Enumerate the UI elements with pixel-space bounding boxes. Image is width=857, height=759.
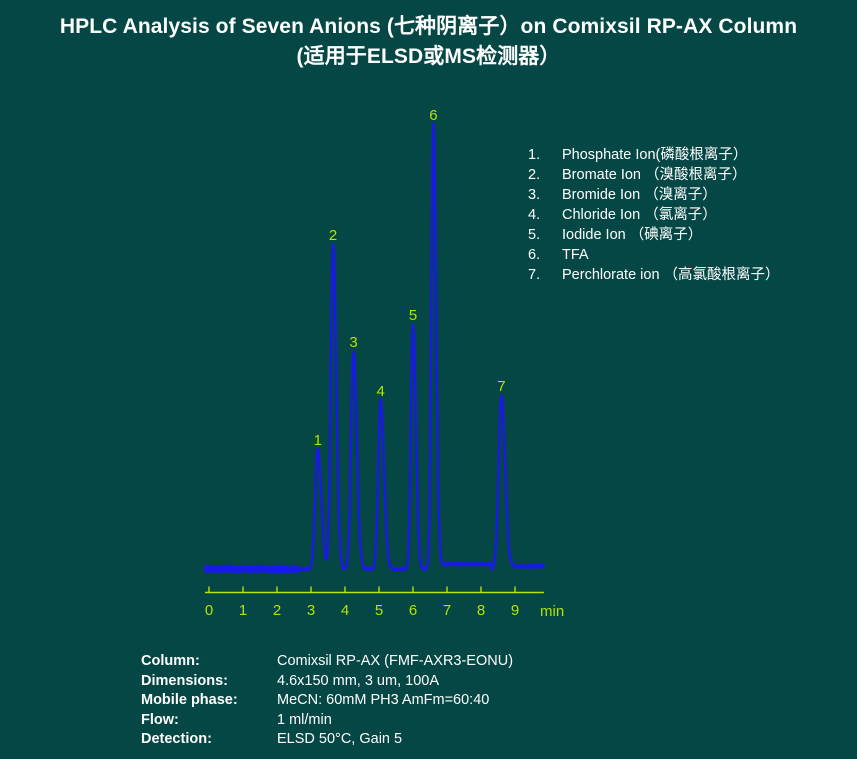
legend-item-number: 1. xyxy=(528,145,562,165)
x-axis-tick-9: 9 xyxy=(511,602,519,619)
method-parameter-name: Dimensions: xyxy=(141,672,277,692)
legend-item-number: 3. xyxy=(528,185,562,205)
x-axis: 0123456789 min xyxy=(0,0,857,640)
method-row: Mobile phase:MeCN: 60mM PH3 AmFm=60:40 xyxy=(141,691,513,711)
method-parameter-value: ELSD 50°C, Gain 5 xyxy=(277,730,402,750)
legend-item-number: 2. xyxy=(528,165,562,185)
method-parameter-value: 1 ml/min xyxy=(277,711,332,731)
x-axis-tick-7: 7 xyxy=(443,602,451,619)
legend-item-label: Bromide Ion （溴离子） xyxy=(562,185,717,205)
legend-item: 6.TFA xyxy=(528,245,780,265)
x-axis-tick-6: 6 xyxy=(409,602,417,619)
legend-item-number: 4. xyxy=(528,205,562,225)
legend-item-number: 5. xyxy=(528,225,562,245)
method-row: Flow:1 ml/min xyxy=(141,711,513,731)
method-parameter-name: Detection: xyxy=(141,730,277,750)
x-axis-unit-label: min xyxy=(540,603,564,620)
slide-canvas: HPLC Analysis of Seven Anions (七种阴离子）on … xyxy=(0,0,857,759)
x-axis-line xyxy=(0,0,857,640)
method-parameter-value: Comixsil RP-AX (FMF-AXR3-EONU) xyxy=(277,652,513,672)
method-row: Detection:ELSD 50°C, Gain 5 xyxy=(141,730,513,750)
legend-item-number: 6. xyxy=(528,245,562,265)
legend-item-label: Perchlorate ion （高氯酸根离子） xyxy=(562,265,780,285)
x-axis-tick-5: 5 xyxy=(375,602,383,619)
legend-item: 2.Bromate Ion （溴酸根离子） xyxy=(528,165,780,185)
legend-item: 3.Bromide Ion （溴离子） xyxy=(528,185,780,205)
method-parameter-name: Mobile phase: xyxy=(141,691,277,711)
legend-item-label: Bromate Ion （溴酸根离子） xyxy=(562,165,747,185)
method-parameter-value: 4.6x150 mm, 3 um, 100A xyxy=(277,672,439,692)
legend: 1.Phosphate Ion(磷酸根离子）2.Bromate Ion （溴酸根… xyxy=(528,145,780,285)
legend-item: 1.Phosphate Ion(磷酸根离子） xyxy=(528,145,780,165)
method-parameter-value: MeCN: 60mM PH3 AmFm=60:40 xyxy=(277,691,489,711)
legend-item: 4.Chloride Ion （氯离子） xyxy=(528,205,780,225)
legend-item-label: Phosphate Ion(磷酸根离子） xyxy=(562,145,747,165)
x-axis-tick-0: 0 xyxy=(205,602,213,619)
method-parameter-name: Column: xyxy=(141,652,277,672)
x-axis-tick-3: 3 xyxy=(307,602,315,619)
legend-item-label: TFA xyxy=(562,245,589,265)
legend-item-label: Iodide Ion （碘离子） xyxy=(562,225,702,245)
x-axis-tick-1: 1 xyxy=(239,602,247,619)
x-axis-tick-4: 4 xyxy=(341,602,349,619)
legend-item: 7.Perchlorate ion （高氯酸根离子） xyxy=(528,265,780,285)
legend-item-label: Chloride Ion （氯离子） xyxy=(562,205,717,225)
method-row: Column: Comixsil RP-AX (FMF-AXR3-EONU) xyxy=(141,652,513,672)
x-axis-tick-2: 2 xyxy=(273,602,281,619)
x-axis-tick-8: 8 xyxy=(477,602,485,619)
legend-item: 5.Iodide Ion （碘离子） xyxy=(528,225,780,245)
legend-item-number: 7. xyxy=(528,265,562,285)
method-row: Dimensions:4.6x150 mm, 3 um, 100A xyxy=(141,672,513,692)
method-parameter-name: Flow: xyxy=(141,711,277,731)
method-parameters-table: Column: Comixsil RP-AX (FMF-AXR3-EONU)Di… xyxy=(141,652,513,750)
